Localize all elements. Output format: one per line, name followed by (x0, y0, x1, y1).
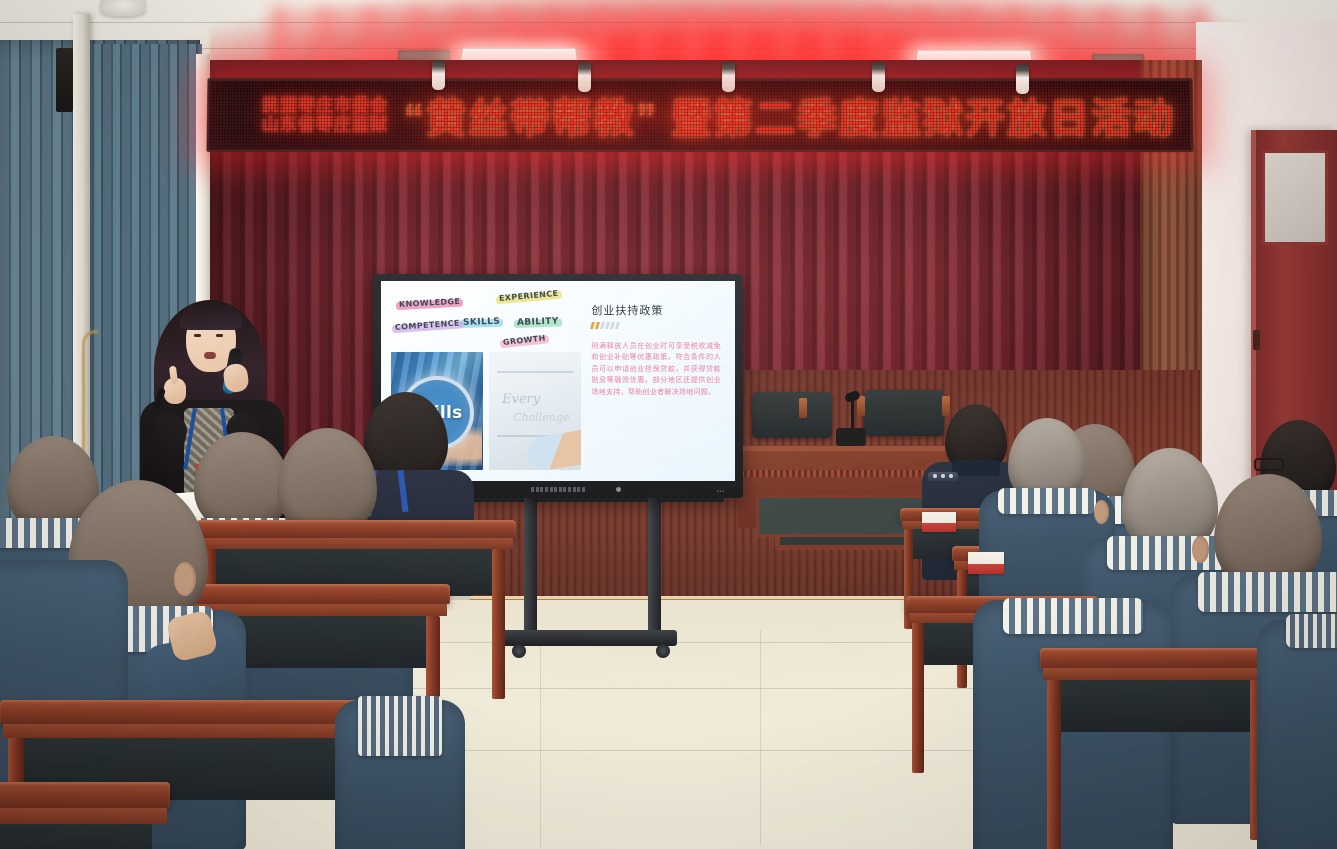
podium-microphone-base (836, 428, 866, 446)
wordcloud-item: SKILLS (463, 317, 500, 328)
led-headline-quoted: 黄丝带帮教 (426, 97, 636, 141)
led-org-line-2: 山东省枣庄监狱 (262, 115, 388, 134)
slide-title: 创业扶持政策 (591, 302, 721, 318)
display-button-strip-icon[interactable] (531, 487, 585, 492)
inmate-ear (174, 562, 196, 596)
wordcloud-item: KNOWLEDGE (399, 297, 461, 309)
led-headline-rest: 暨第二季度监狱开放日活动 (671, 97, 1175, 141)
officer-epaulette (928, 472, 958, 481)
led-banner: 民盟枣庄市委会 山东省枣庄监狱 “黄丝带帮教” 暨第二季度监狱开放日活动 (206, 78, 1193, 152)
desk-name-card (922, 512, 956, 532)
spotlight-icon (1016, 64, 1029, 94)
spotlight-icon (722, 62, 735, 92)
whiteboard-script-text: Every (502, 392, 540, 407)
inmate-foreground-partial (330, 700, 470, 849)
inmate-ear (1094, 500, 1109, 524)
whiteboard-script-text: Challenge (513, 411, 569, 424)
wordcloud-label: ABILITY (517, 317, 559, 328)
door-window-pane (1262, 150, 1328, 245)
slide-wordcloud: KNOWLEDGE EXPERIENCE SKILLS ABILITY (391, 290, 581, 348)
led-banner-organization: 民盟枣庄市委会 山东省枣庄监狱 (262, 96, 388, 134)
display-power-led-icon (616, 487, 621, 492)
wall-speaker-icon (56, 48, 73, 112)
slide-right-column: 创业扶持政策 刑满释放人员在创业时可享受税收减免和创业补贴等优惠政策。符合条件的… (581, 290, 725, 472)
wordcloud-item: EXPERIENCE (499, 289, 559, 303)
wordcloud-item: COMPETENCE (395, 318, 460, 332)
quote-close-mark: ” (636, 97, 658, 141)
caster-wheel-icon (656, 644, 670, 658)
eyeglasses-icon (1254, 458, 1284, 471)
inmate-uniform (1257, 620, 1337, 849)
door-handle-icon[interactable] (1253, 330, 1260, 350)
desk-name-card (968, 552, 1004, 574)
spotlight-icon (432, 60, 445, 90)
led-org-line-1: 民盟枣庄市委会 (262, 96, 388, 115)
inmate-striped-collar (1003, 598, 1143, 634)
display-stand-base (497, 630, 677, 646)
spotlight-icon (578, 62, 591, 92)
photo-scene: 民盟枣庄市委会 山东省枣庄监狱 “黄丝带帮教” 暨第二季度监狱开放日活动 (0, 0, 1337, 849)
display-stand-leg (524, 498, 537, 646)
ceiling-fixture-icon (100, 0, 146, 16)
slide-accent-marks (591, 322, 721, 329)
inmate-striped-collar (998, 488, 1096, 514)
inmate-right-corner (1276, 620, 1337, 849)
slide-photo-whiteboard: Every Challenge (489, 352, 581, 470)
slide-body-text: 刑满释放人员在创业时可享受税收减免和创业补贴等优惠政策。符合条件的人员可以申请创… (591, 340, 721, 397)
wordcloud-item: ABILITY (517, 317, 559, 328)
led-banner-headline: “黄丝带帮教” 暨第二季度监狱开放日活动 (404, 86, 1176, 144)
inmate-ear (1192, 536, 1209, 563)
display-stand-leg (648, 498, 661, 646)
podium-chair[interactable] (752, 392, 832, 438)
wordcloud-label: SKILLS (463, 317, 500, 328)
wordcloud-item: GROWTH (503, 334, 547, 347)
podium-chair-post (799, 398, 807, 418)
display-brand-mark: ••• (717, 489, 725, 495)
inmate-striped-collar (1286, 614, 1337, 648)
presenter-mouth (204, 352, 216, 359)
inmate-striped-sleeve (358, 696, 442, 756)
quote-open-mark: “ (404, 97, 426, 141)
spotlight-icon (872, 62, 885, 92)
caster-wheel-icon (512, 644, 526, 658)
inmate-striped-collar (1198, 572, 1337, 612)
